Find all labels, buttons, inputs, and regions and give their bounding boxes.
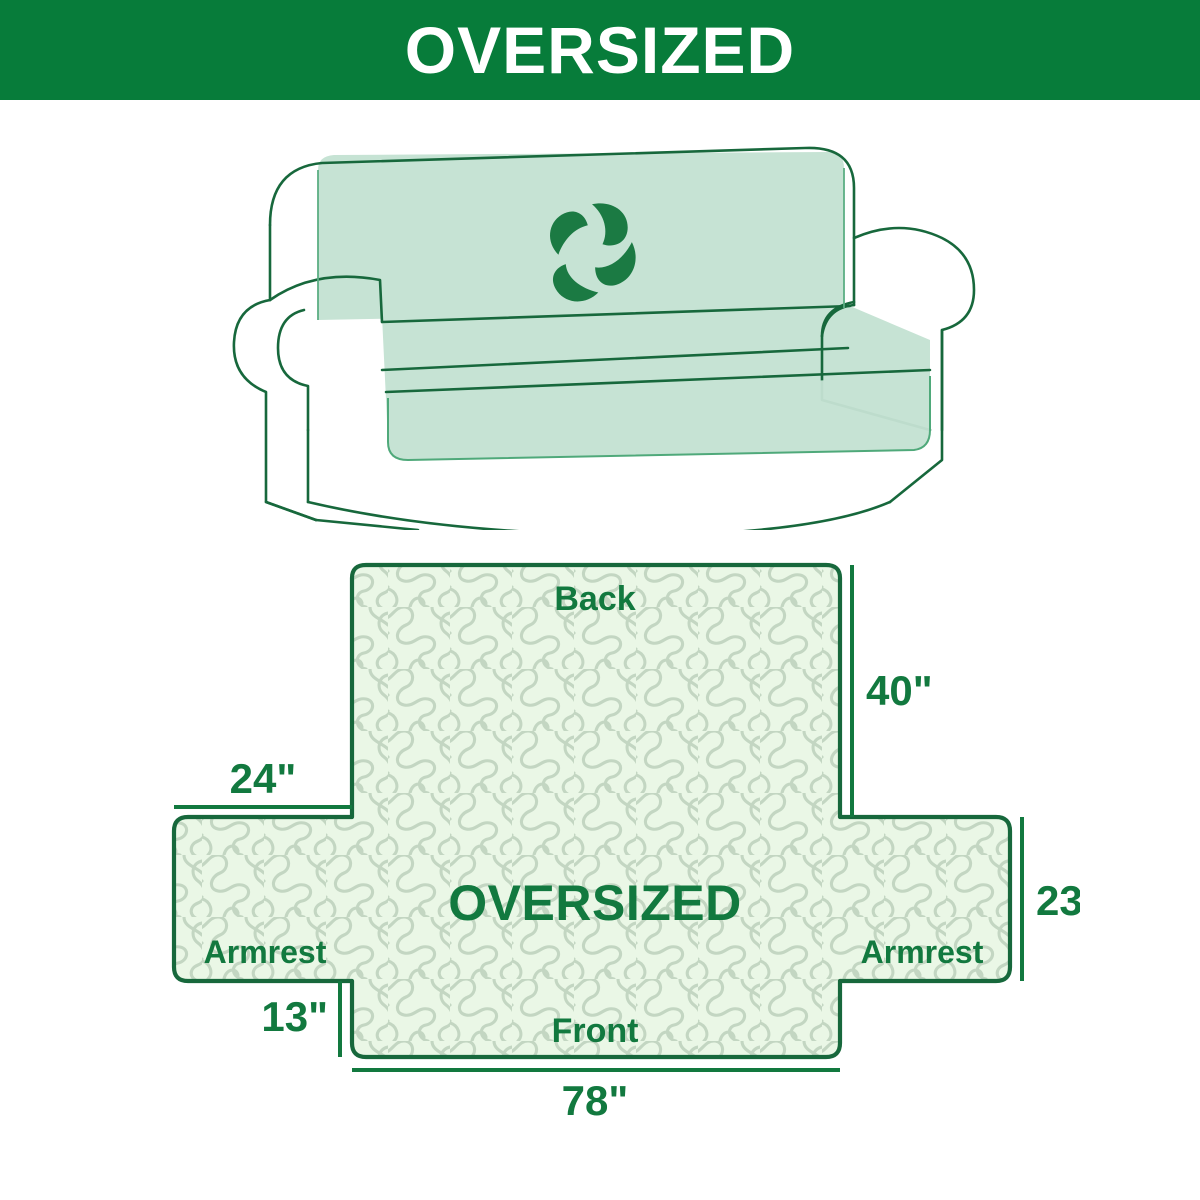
total-width-dimension-label: 78"	[562, 1077, 629, 1124]
flat-layout-svg: Back Armrest Armrest Front OVERSIZED 40"…	[140, 545, 1080, 1125]
center-size-label: OVERSIZED	[448, 875, 741, 931]
armrest-offset-dimension-label: 24"	[230, 755, 297, 802]
left-armrest-panel-label: Armrest	[204, 934, 327, 970]
total-width-dimension: 78"	[352, 1070, 840, 1124]
armrest-offset-dimension: 24"	[174, 755, 352, 807]
front-panel-label: Front	[552, 1012, 639, 1050]
back-height-dimension: 40"	[852, 565, 933, 817]
product-dimension-graphic: OVERSIZED	[0, 0, 1200, 1200]
sofa-illustration	[230, 130, 990, 530]
back-height-dimension-label: 40"	[866, 667, 933, 714]
banner-title: OVERSIZED	[405, 17, 795, 83]
flat-layout-diagram: Back Armrest Armrest Front OVERSIZED 40"…	[140, 545, 1080, 1125]
front-height-dimension-label: 13"	[261, 993, 328, 1040]
armrest-depth-dimension: 23"	[1022, 817, 1080, 981]
front-height-dimension: 13"	[261, 981, 340, 1057]
sofa-illustration-svg	[230, 130, 990, 530]
right-armrest-panel-label: Armrest	[861, 934, 984, 970]
armrest-depth-dimension-label: 23"	[1036, 877, 1080, 924]
back-panel-label: Back	[554, 580, 635, 618]
cover-cross-shape	[174, 565, 1010, 1057]
header-banner: OVERSIZED	[0, 0, 1200, 100]
